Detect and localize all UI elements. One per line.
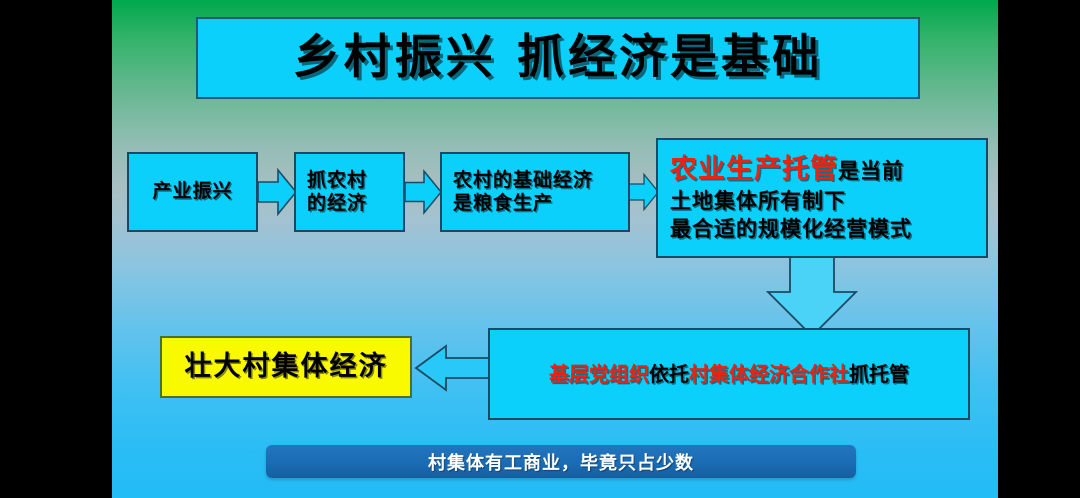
flow-step-3-line-2: 是粮食生产 bbox=[442, 192, 553, 215]
caption-text: 村集体有工商业，毕竟只占少数 bbox=[428, 449, 694, 475]
flow-step-2: 抓农村 的经济 bbox=[294, 152, 405, 232]
flow-step-4-highlight: 农业生产托管 bbox=[670, 154, 838, 185]
flow-action-seg-4: 抓托管 bbox=[849, 362, 909, 386]
flow-action-text: 基层党组织依托村集体经济合作社抓托管 bbox=[549, 362, 909, 386]
flow-step-4-line-2: 土地集体所有制下 bbox=[670, 188, 846, 216]
flow-step-4-line-3: 最合适的规模化经营模式 bbox=[670, 216, 912, 244]
video-frame: 乡村振兴 抓经济是基础 产业振兴 抓农村 的经济 农村的基础经济 是粮食生 bbox=[0, 0, 1080, 498]
flow-action-seg-3: 村集体经济合作社 bbox=[689, 362, 849, 386]
flow-step-4-line-1-tail: 是当前 bbox=[838, 159, 904, 183]
letterbox-left bbox=[0, 0, 112, 498]
arrow-right-icon-2 bbox=[405, 168, 443, 216]
flow-step-4-line-1: 农业生产托管是当前 bbox=[670, 152, 904, 188]
flow-step-1-line-1: 产业振兴 bbox=[152, 180, 232, 203]
letterbox-right bbox=[998, 0, 1080, 498]
flow-step-4: 农业生产托管是当前 土地集体所有制下 最合适的规模化经营模式 bbox=[656, 138, 988, 258]
presentation-slide: 乡村振兴 抓经济是基础 产业振兴 抓农村 的经济 农村的基础经济 是粮食生 bbox=[112, 0, 998, 498]
page-title: 乡村振兴 抓经济是基础 bbox=[293, 29, 823, 86]
flow-action-seg-1: 基层党组织 bbox=[549, 362, 649, 386]
arrow-left-icon bbox=[412, 344, 494, 392]
flow-step-1: 产业振兴 bbox=[127, 152, 258, 232]
flow-action-seg-2: 依托 bbox=[649, 362, 689, 386]
flow-step-3-line-1: 农村的基础经济 bbox=[442, 169, 593, 192]
arrow-down-icon bbox=[764, 252, 860, 338]
flow-step-3: 农村的基础经济 是粮食生产 bbox=[440, 152, 630, 232]
flow-result-box: 壮大村集体经济 bbox=[160, 336, 412, 398]
flow-step-2-line-2: 的经济 bbox=[296, 192, 367, 215]
flow-result-label: 壮大村集体经济 bbox=[185, 351, 388, 384]
caption-banner: 村集体有工商业，毕竟只占少数 bbox=[266, 445, 856, 478]
slide-title-box: 乡村振兴 抓经济是基础 bbox=[196, 17, 920, 99]
arrow-right-icon-1 bbox=[258, 168, 298, 216]
flow-step-2-line-1: 抓农村 bbox=[296, 169, 367, 192]
flow-action-box: 基层党组织依托村集体经济合作社抓托管 bbox=[488, 328, 970, 420]
